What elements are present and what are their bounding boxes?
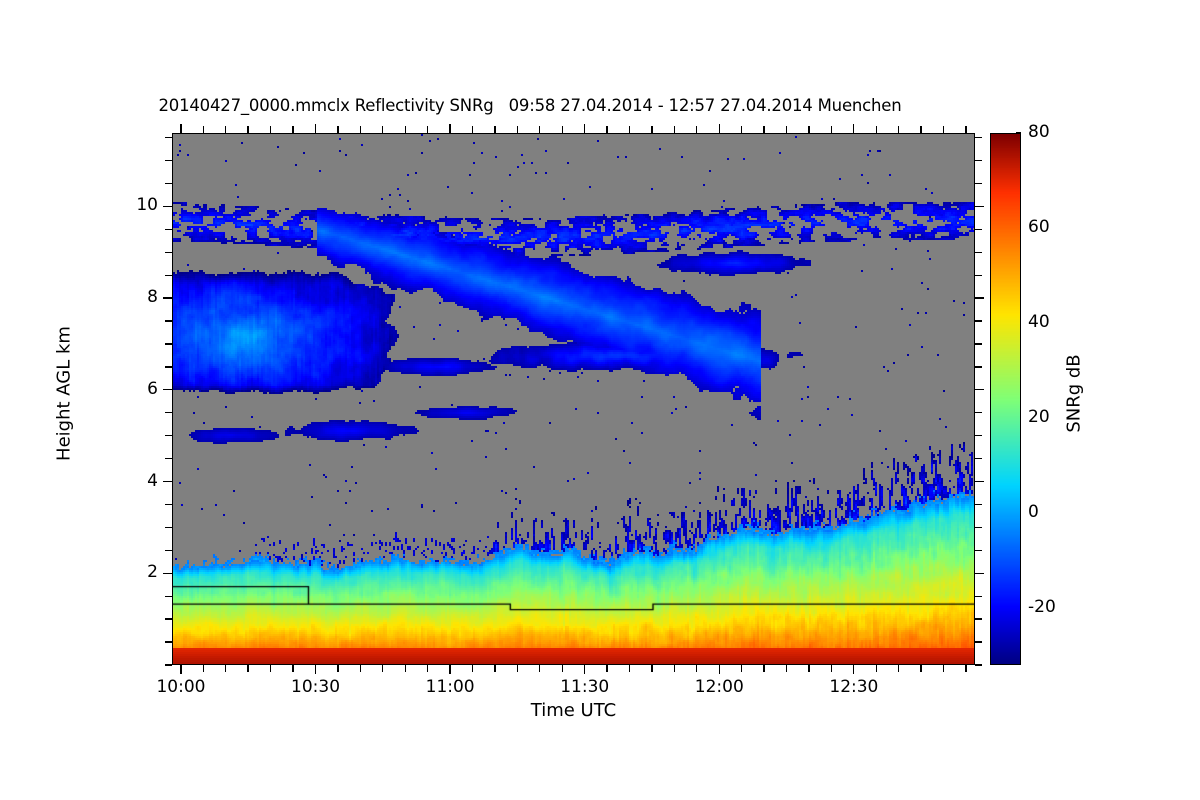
x-axis-tick-top (405, 126, 406, 133)
x-axis-tick-top (719, 124, 720, 133)
y-axis-tick (165, 664, 172, 665)
x-tick-label: 10:00 (136, 677, 226, 697)
page-title: 20140427_0000.mmclx Reflectivity SNRg 09… (0, 96, 1060, 115)
x-axis-tick-top (741, 126, 742, 133)
x-axis-tick-top (651, 126, 652, 133)
y-axis-tick (165, 160, 172, 161)
x-axis-tick (696, 665, 697, 672)
x-axis-tick-top (943, 126, 944, 133)
y-axis-tick (165, 641, 172, 642)
x-axis-tick (270, 665, 271, 672)
x-axis-tick-top (203, 126, 204, 133)
x-axis-tick (180, 665, 181, 674)
y-axis-tick-right (975, 550, 982, 551)
x-axis-tick-top (674, 126, 675, 133)
y-axis-tick (165, 343, 172, 344)
y-axis-tick (165, 596, 172, 597)
y-axis-tick-right (975, 229, 982, 230)
y-axis-tick (163, 297, 172, 298)
y-tick-label: 2 (86, 562, 158, 582)
y-axis-tick (165, 412, 172, 413)
x-axis-tick (629, 665, 630, 672)
x-axis-tick-top (382, 126, 383, 133)
x-axis-tick (965, 665, 966, 672)
x-axis-tick-top (225, 126, 226, 133)
x-axis-tick-top (965, 126, 966, 133)
y-axis-tick-right (975, 343, 982, 344)
x-tick-label: 12:00 (674, 677, 764, 697)
plot-axes-area[interactable] (172, 133, 975, 665)
x-axis-tick (584, 665, 585, 674)
x-axis-title: Time UTC (172, 700, 975, 721)
colorbar-tick-label: 80 (1028, 122, 1088, 142)
x-axis-tick (920, 665, 921, 672)
y-axis-tick-right (975, 664, 982, 665)
colorbar-tick-label: 60 (1028, 217, 1088, 237)
x-axis-tick-top (562, 126, 563, 133)
y-axis-tick (163, 481, 172, 482)
y-axis-tick (165, 527, 172, 528)
x-tick-label: 12:30 (809, 677, 899, 697)
x-axis-tick-top (831, 126, 832, 133)
x-axis-tick-top (270, 126, 271, 133)
x-axis-tick (315, 665, 316, 674)
y-axis-tick (165, 504, 172, 505)
colorbar-tick-label: 0 (1028, 502, 1088, 522)
colorbar-tick-label: -20 (1028, 597, 1088, 617)
x-axis-tick (808, 665, 809, 672)
colorbar-gradient-canvas (991, 134, 1021, 665)
x-axis-tick (719, 665, 720, 674)
x-axis-tick (763, 665, 764, 672)
x-axis-tick-top (584, 124, 585, 133)
x-axis-tick (786, 665, 787, 672)
y-axis-tick-right (975, 297, 984, 298)
x-axis-tick (405, 665, 406, 672)
x-axis-tick (853, 665, 854, 674)
x-axis-tick (225, 665, 226, 672)
y-axis-tick-right (975, 435, 982, 436)
y-axis-tick-right (975, 458, 982, 459)
x-axis-tick-top (449, 124, 450, 133)
y-axis-tick (165, 320, 172, 321)
x-axis-tick-top (763, 126, 764, 133)
x-axis-tick (337, 665, 338, 672)
x-axis-tick-top (180, 124, 181, 133)
y-axis-tick-right (975, 481, 984, 482)
y-axis-tick (165, 618, 172, 619)
x-axis-tick-top (786, 126, 787, 133)
y-axis-tick (163, 206, 172, 207)
x-axis-tick-top (427, 126, 428, 133)
x-axis-tick (741, 665, 742, 672)
x-axis-tick-top (876, 126, 877, 133)
x-tick-label: 11:00 (405, 677, 495, 697)
x-axis-tick-top (360, 126, 361, 133)
y-axis-tick (165, 458, 172, 459)
x-axis-tick-top (472, 126, 473, 133)
x-axis-tick (427, 665, 428, 672)
x-axis-tick (606, 665, 607, 672)
y-axis-tick-right (975, 573, 984, 574)
x-axis-tick-top (315, 124, 316, 133)
y-axis-tick (163, 573, 172, 574)
x-axis-tick (943, 665, 944, 672)
x-axis-tick (651, 665, 652, 672)
x-axis-tick-top (292, 126, 293, 133)
y-axis-tick-right (975, 252, 982, 253)
y-tick-label: 10 (86, 195, 158, 215)
x-axis-tick (449, 665, 450, 674)
y-axis-tick (165, 550, 172, 551)
y-axis-tick-right (975, 320, 982, 321)
y-tick-label: 8 (86, 287, 158, 307)
y-axis-title: Height AGL km (54, 264, 75, 524)
x-axis-tick (472, 665, 473, 672)
x-axis-tick (360, 665, 361, 672)
y-axis-tick (165, 229, 172, 230)
y-axis-tick (165, 252, 172, 253)
x-axis-tick (831, 665, 832, 672)
x-axis-tick (247, 665, 248, 672)
x-axis-tick-top (920, 126, 921, 133)
x-axis-tick (494, 665, 495, 672)
colorbar[interactable] (990, 133, 1021, 665)
x-axis-tick (876, 665, 877, 672)
x-axis-tick-top (517, 126, 518, 133)
y-axis-tick-right (975, 596, 982, 597)
y-axis-tick-right (975, 366, 982, 367)
y-axis-tick-right (975, 412, 982, 413)
x-tick-label: 10:30 (271, 677, 361, 697)
x-axis-tick-top (853, 124, 854, 133)
x-axis-tick-top (629, 126, 630, 133)
x-axis-tick (292, 665, 293, 672)
x-axis-tick (539, 665, 540, 672)
y-axis-tick-right (975, 618, 982, 619)
x-axis-tick (382, 665, 383, 672)
y-axis-tick (165, 435, 172, 436)
y-axis-tick (165, 137, 172, 138)
y-axis-tick-right (975, 183, 982, 184)
y-axis-tick (165, 183, 172, 184)
y-axis-tick (163, 389, 172, 390)
x-axis-tick (674, 665, 675, 672)
x-axis-tick-top (337, 126, 338, 133)
y-axis-tick-right (975, 389, 984, 390)
x-axis-tick (517, 665, 518, 672)
y-axis-tick-right (975, 206, 984, 207)
colorbar-title: SNRg dB (1064, 294, 1085, 494)
y-axis-tick-right (975, 160, 982, 161)
x-axis-tick-top (494, 126, 495, 133)
x-axis-tick-top (808, 126, 809, 133)
x-axis-tick (562, 665, 563, 672)
x-axis-tick (898, 665, 899, 672)
x-axis-tick-top (898, 126, 899, 133)
x-axis-tick-top (606, 126, 607, 133)
y-axis-tick-right (975, 137, 982, 138)
y-axis-tick (165, 275, 172, 276)
y-tick-label: 6 (86, 379, 158, 399)
x-axis-tick-top (696, 126, 697, 133)
y-axis-tick-right (975, 641, 982, 642)
x-axis-tick-top (539, 126, 540, 133)
x-tick-label: 11:30 (540, 677, 630, 697)
y-axis-tick-right (975, 504, 982, 505)
y-axis-tick (165, 366, 172, 367)
radar-plot-figure: 20140427_0000.mmclx Reflectivity SNRg 09… (0, 0, 1200, 800)
y-axis-tick-right (975, 275, 982, 276)
x-axis-tick-top (247, 126, 248, 133)
y-axis-tick-right (975, 527, 982, 528)
x-axis-tick (203, 665, 204, 672)
step-line-overlay-canvas (173, 134, 975, 665)
y-tick-label: 4 (86, 471, 158, 491)
